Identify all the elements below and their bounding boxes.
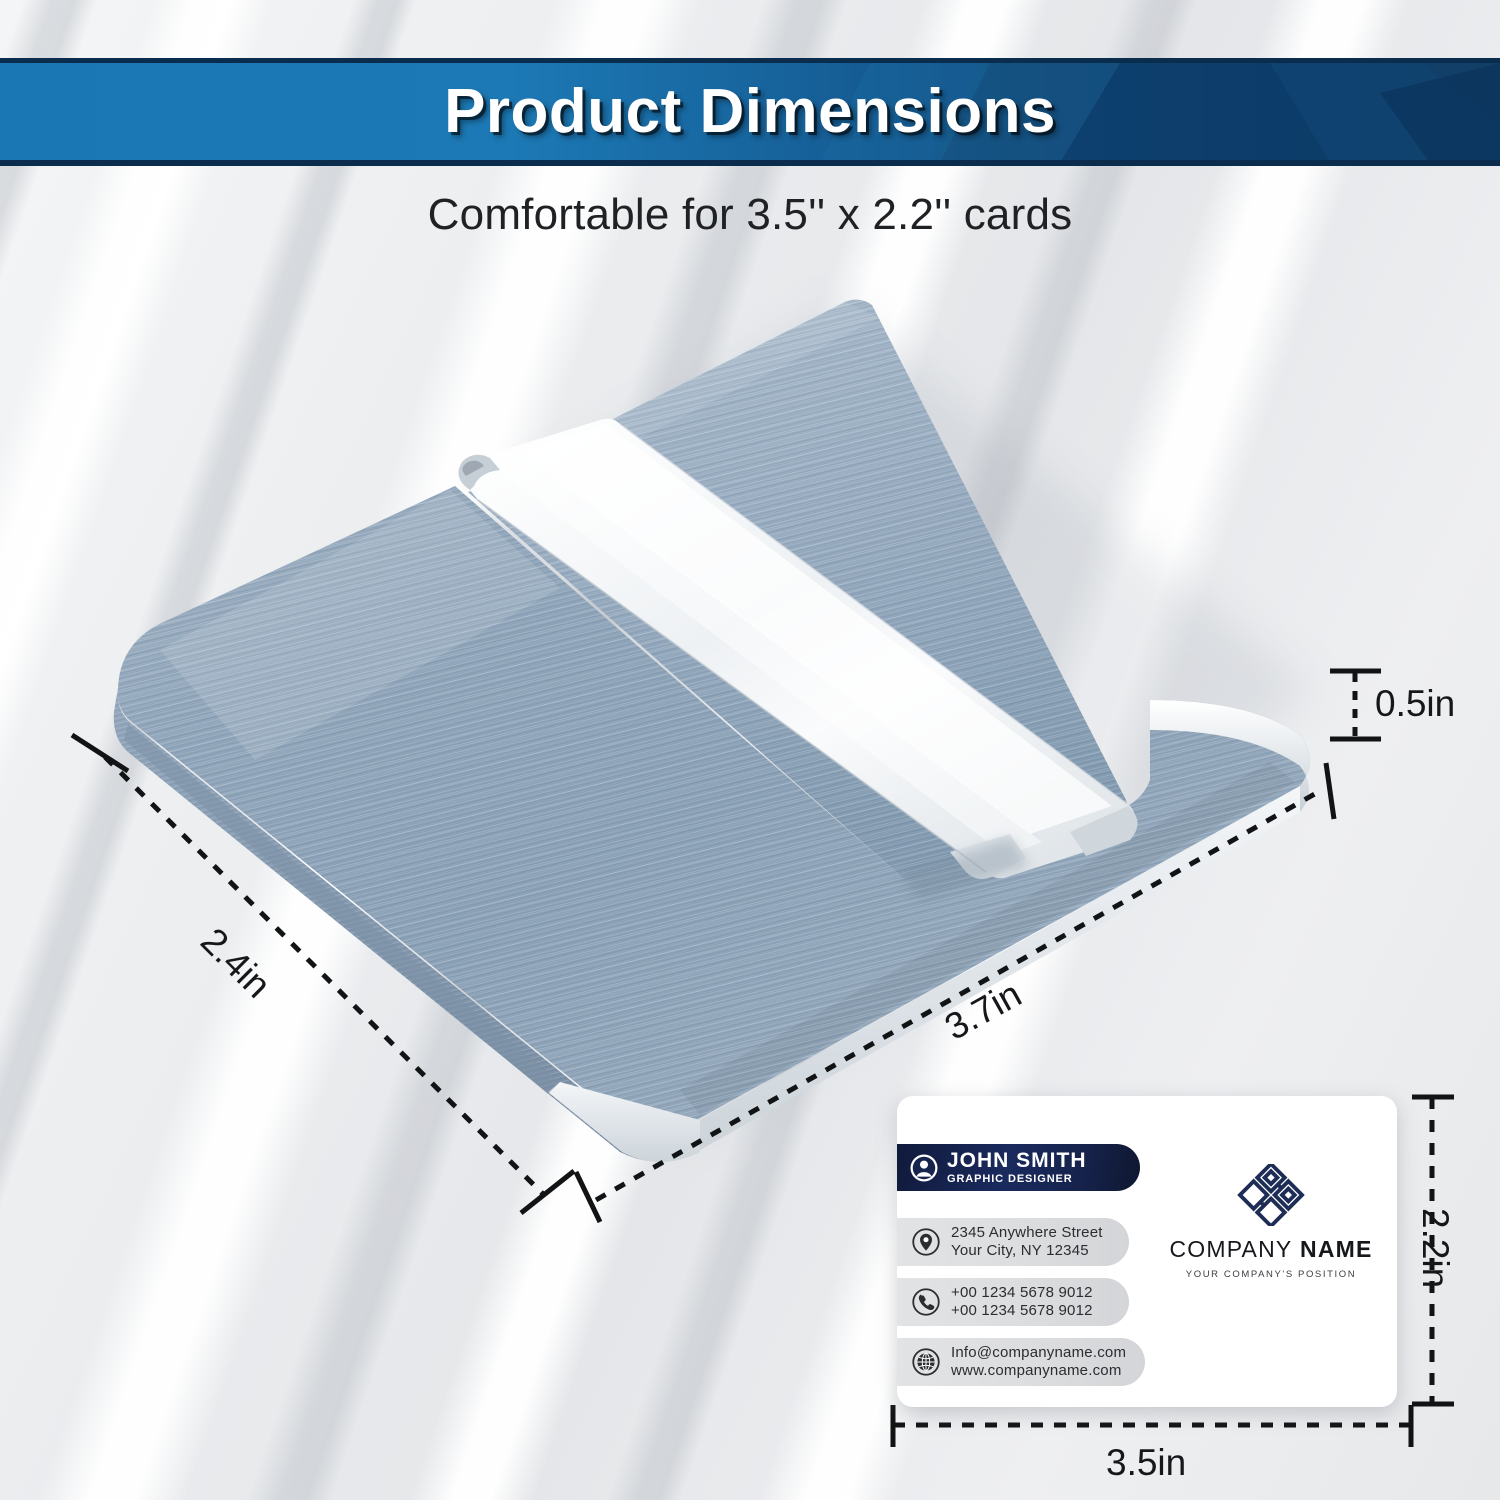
card-name-badge: JOHN SMITH GRAPHIC DESIGNER (897, 1144, 1140, 1191)
card-email: Info@companyname.com (951, 1344, 1126, 1362)
business-card: JOHN SMITH GRAPHIC DESIGNER 2345 Anywher… (897, 1096, 1397, 1407)
company-logo-icon (1232, 1164, 1310, 1226)
dimension-label-card-height: 2.2in (1414, 1208, 1456, 1288)
card-contact-row-phone: +00 1234 5678 9012 +00 1234 5678 9012 (897, 1278, 1129, 1326)
dimension-line-height (1330, 671, 1381, 739)
dimension-label-height: 0.5in (1375, 683, 1455, 725)
card-company-name-bold: COMPANY (1169, 1236, 1292, 1262)
card-company-name-light: NAME (1300, 1236, 1373, 1262)
card-person-name: JOHN SMITH (947, 1150, 1087, 1171)
infographic-canvas: Product Dimensions Comfortable for 3.5''… (0, 0, 1500, 1500)
card-person-role: GRAPHIC DESIGNER (947, 1174, 1087, 1185)
card-website: www.companyname.com (951, 1362, 1126, 1380)
card-address-line2: Your City, NY 12345 (951, 1242, 1103, 1260)
dimension-line-depth (72, 735, 574, 1213)
card-address-line1: 2345 Anywhere Street (951, 1224, 1103, 1242)
card-contact-row-address: 2345 Anywhere Street Your City, NY 12345 (897, 1218, 1129, 1266)
card-phone-line1: +00 1234 5678 9012 (951, 1284, 1093, 1302)
dimension-line-card-width (893, 1405, 1411, 1447)
dimension-label-card-width: 3.5in (1106, 1442, 1186, 1484)
card-company-tagline: YOUR COMPANY'S POSITION (1186, 1269, 1356, 1280)
globe-icon (911, 1347, 941, 1377)
location-pin-icon (911, 1227, 941, 1257)
card-company-name: COMPANY NAME (1169, 1236, 1372, 1263)
card-phone-line2: +00 1234 5678 9012 (951, 1302, 1093, 1320)
avatar-icon (909, 1153, 939, 1183)
card-contact-row-web: Info@companyname.com www.companyname.com (897, 1338, 1145, 1386)
phone-icon (911, 1287, 941, 1317)
card-brand-block: COMPANY NAME YOUR COMPANY'S POSITION (1163, 1164, 1379, 1280)
page-title: Product Dimensions (444, 76, 1056, 147)
